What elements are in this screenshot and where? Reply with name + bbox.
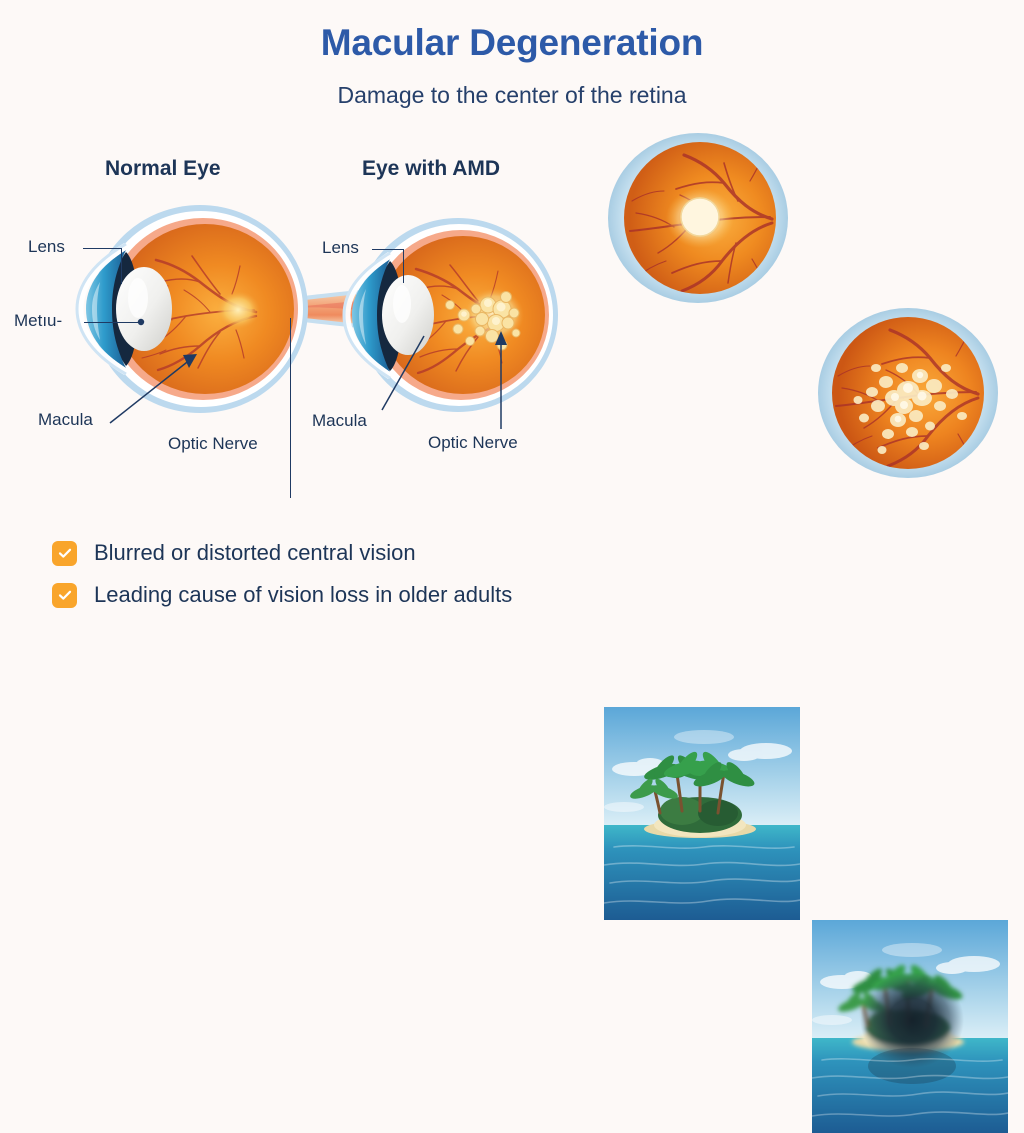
fundus-amd-macula: Macular Degeneration [812, 306, 1004, 481]
list-item-label: Blurred or distorted central vision [94, 540, 416, 566]
leader-lens-normal-down [121, 248, 122, 284]
leader-macula-amd [378, 330, 438, 416]
leader-lens-amd [372, 249, 404, 250]
label-lens-amd: Lens [322, 238, 359, 258]
label-retina-normal: Metıu- [14, 311, 62, 331]
heading-eye-with-amd: Eye with AMD [362, 157, 500, 181]
symptom-list: Blurred or distorted central vision Lead… [52, 540, 512, 624]
label-lens-normal: Lens [28, 237, 65, 257]
label-macula-normal: Macula [38, 410, 93, 430]
page-subtitle: Damage to the center of the retina [0, 82, 1024, 109]
fundus-normal-macula: Normal Macula [604, 131, 792, 306]
heading-normal-eye: Normal Eye [105, 157, 221, 181]
macula-spot-normal [216, 291, 260, 329]
vision-photo-amd: Vision with AMD [812, 920, 1008, 1133]
leader-optic-nerve-amd [492, 325, 518, 435]
infographic-root: Macular Degeneration Damage to the cente… [0, 0, 1024, 683]
leader-macula-normal [105, 335, 215, 430]
check-icon [52, 583, 77, 608]
list-item-label: Leading cause of vision loss in older ad… [94, 582, 512, 608]
label-optic-nerve-normal: Optic Nerve [168, 434, 258, 454]
page-title: Macular Degeneration [0, 22, 1024, 64]
label-macula-amd: Macula [312, 411, 367, 431]
amd-eye-diagram [330, 205, 605, 420]
vision-photo-normal: Normal Vision [604, 707, 800, 920]
check-icon [52, 541, 77, 566]
label-optic-nerve-amd: Optic Nerve [428, 433, 518, 453]
list-item: Blurred or distorted central vision [52, 540, 512, 566]
leader-lens-amd-down [403, 249, 404, 283]
leader-optic-nerve-normal [290, 318, 291, 498]
leader-retina-normal [84, 322, 140, 323]
leader-retina-dot [136, 316, 150, 330]
list-item: Leading cause of vision loss in older ad… [52, 582, 512, 608]
leader-lens-normal [83, 248, 122, 249]
